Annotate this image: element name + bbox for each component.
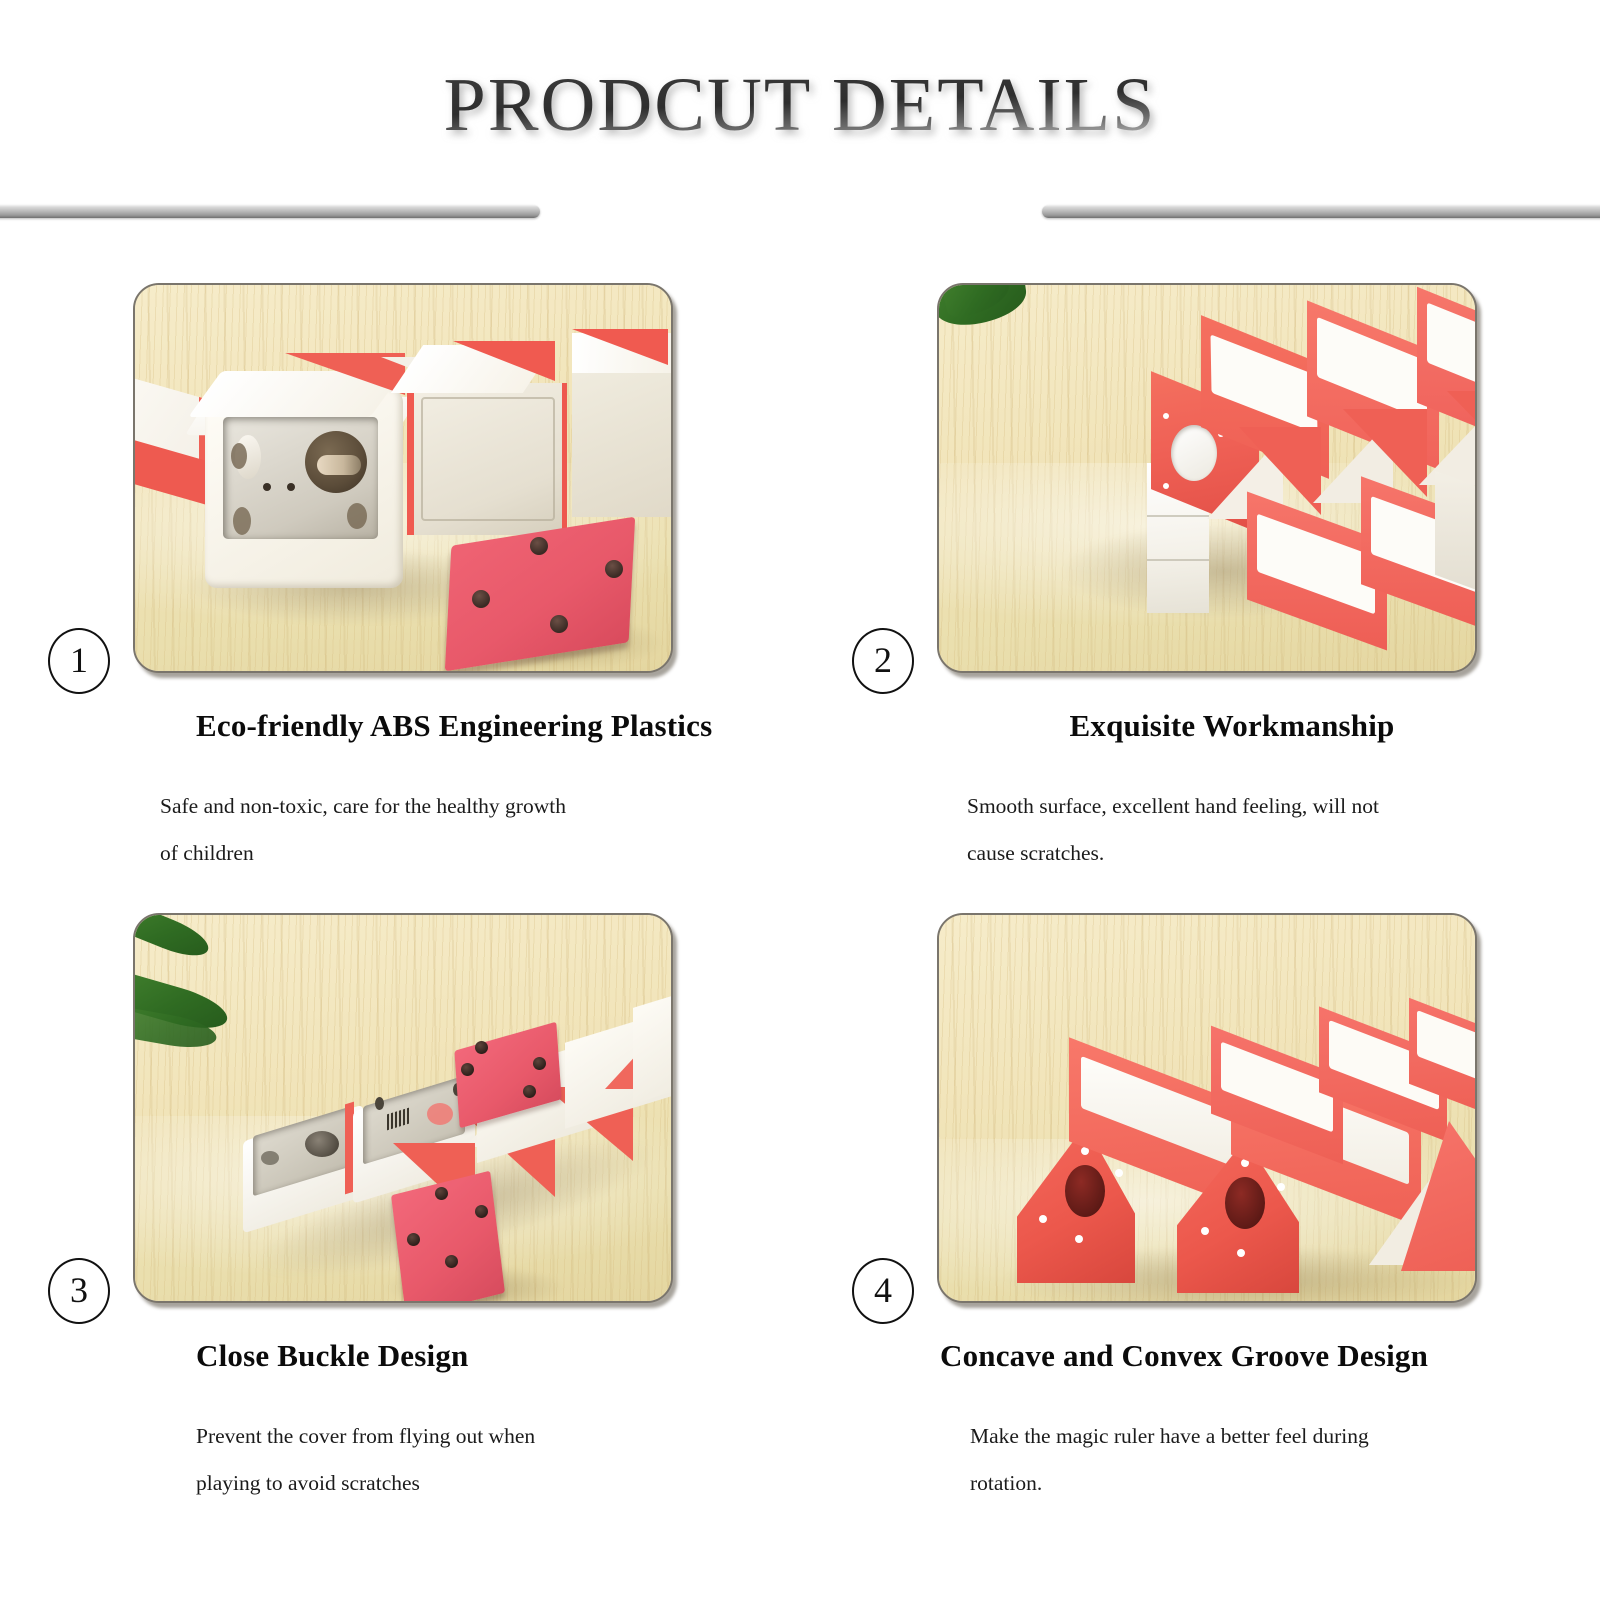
feature-title-1: Eco-friendly ABS Engineering Plastics: [196, 708, 816, 744]
feature-description-2: Smooth surface, excellent hand feeling, …: [967, 783, 1527, 877]
feature-description-line: rotation.: [970, 1460, 1530, 1507]
feature-description-line: cause scratches.: [967, 830, 1527, 877]
feature-photo-4: [937, 913, 1477, 1303]
feature-description-line: playing to avoid scratches: [196, 1460, 756, 1507]
feature-description-line: Make the magic ruler have a better feel …: [970, 1413, 1530, 1460]
feature-grid: 1: [0, 0, 1600, 1600]
feature-description-line: of children: [160, 830, 720, 877]
feature-photo-1: [133, 283, 673, 673]
feature-title-4: Concave and Convex Groove Design: [940, 1338, 1560, 1374]
feature-title-3: Close Buckle Design: [196, 1338, 816, 1374]
step-number-badge-2: 2: [852, 628, 914, 694]
step-number-badge-3: 3: [48, 1258, 110, 1324]
feature-description-4: Make the magic ruler have a better feel …: [970, 1413, 1530, 1507]
feature-photo-3: [133, 913, 673, 1303]
feature-description-1: Safe and non-toxic, care for the healthy…: [160, 783, 720, 877]
step-number-badge-1: 1: [48, 628, 110, 694]
feature-photo-2: [937, 283, 1477, 673]
step-number-badge-4: 4: [852, 1258, 914, 1324]
feature-description-line: Smooth surface, excellent hand feeling, …: [967, 783, 1527, 830]
feature-title-2: Exquisite Workmanship: [907, 708, 1557, 744]
feature-description-line: Prevent the cover from flying out when: [196, 1413, 756, 1460]
feature-description-line: Safe and non-toxic, care for the healthy…: [160, 783, 720, 830]
feature-description-3: Prevent the cover from flying out when p…: [196, 1413, 756, 1507]
